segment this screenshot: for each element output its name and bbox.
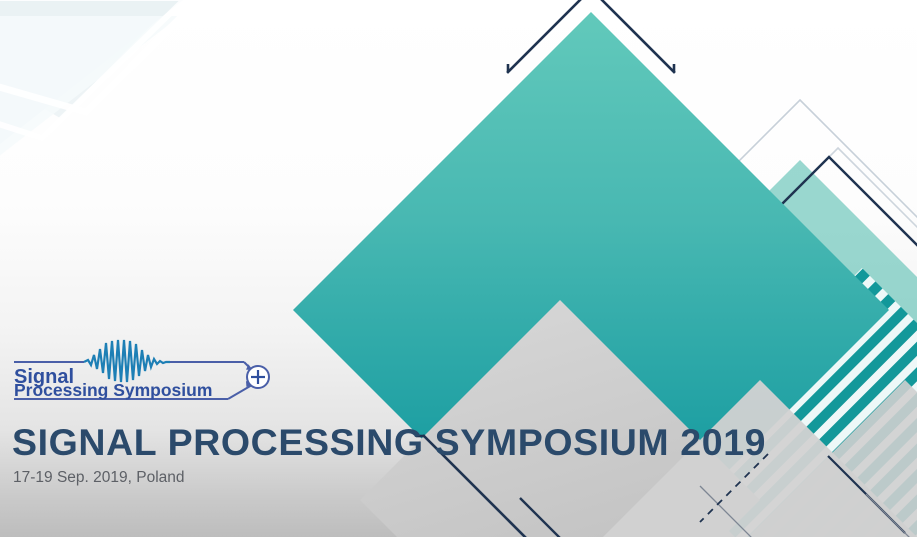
waveform-icon <box>84 340 170 382</box>
logo-line2: Processing Symposium <box>14 380 212 400</box>
event-date-location: 17-19 Sep. 2019, Poland <box>13 470 185 486</box>
plus-circle-icon <box>247 366 269 388</box>
poster-canvas: Signal Processing Symposium SIGNAL PROCE… <box>0 0 917 537</box>
signal-processing-symposium-logo[interactable]: Signal Processing Symposium <box>12 338 270 410</box>
poster-text-layer: Signal Processing Symposium SIGNAL PROCE… <box>0 0 917 537</box>
page-title: SIGNAL PROCESSING SYMPOSIUM 2019 <box>12 424 766 462</box>
